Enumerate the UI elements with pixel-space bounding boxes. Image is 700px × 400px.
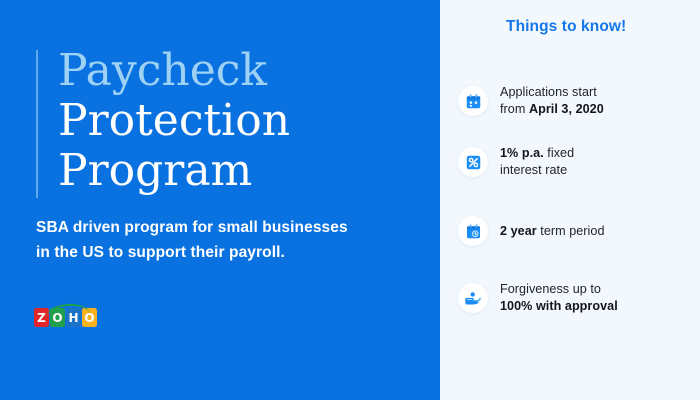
percent-icon bbox=[458, 147, 488, 177]
list-item: 1% p.a. fixed interest rate bbox=[458, 145, 688, 179]
fact-3-line-1: 2 year term period bbox=[500, 223, 605, 240]
zoho-logo: Z O H O bbox=[34, 308, 97, 327]
subtitle-line-1: SBA driven program for small businesses bbox=[36, 215, 406, 240]
fact-4-bold: 100% with approval bbox=[500, 299, 618, 313]
fact-text-2: 1% p.a. fixed interest rate bbox=[500, 145, 574, 179]
fact-3-bold: 2 year bbox=[500, 224, 537, 238]
left-blue-panel: Paycheck Protection Program SBA driven p… bbox=[0, 0, 440, 400]
hand-person-icon bbox=[458, 283, 488, 313]
fact-1-plain: from bbox=[500, 102, 529, 116]
fact-text-4: Forgiveness up to 100% with approval bbox=[500, 281, 618, 315]
fact-1-line-2: from April 3, 2020 bbox=[500, 101, 604, 118]
title-line-3: Program bbox=[58, 146, 290, 196]
calendar-icon bbox=[458, 86, 488, 116]
subtitle: SBA driven program for small businesses … bbox=[36, 215, 406, 265]
fact-4-line-1: Forgiveness up to bbox=[500, 281, 618, 298]
list-item: 2 year term period bbox=[458, 216, 688, 246]
title-line-2: Protection bbox=[58, 96, 290, 146]
list-item: Forgiveness up to 100% with approval bbox=[458, 281, 688, 315]
fact-2-plain: fixed bbox=[544, 146, 574, 160]
list-item: Applications start from April 3, 2020 bbox=[458, 84, 688, 118]
fact-2-line-1: 1% p.a. fixed bbox=[500, 145, 574, 162]
things-to-know-heading: Things to know! bbox=[506, 18, 626, 36]
title-accent-rule bbox=[36, 50, 38, 198]
right-info-panel: Things to know! bbox=[440, 0, 700, 400]
fact-text-3: 2 year term period bbox=[500, 223, 605, 240]
page-title: Paycheck Protection Program bbox=[36, 46, 290, 196]
fact-1-line-1: Applications start bbox=[500, 84, 604, 101]
fact-2-bold: 1% p.a. bbox=[500, 146, 544, 160]
fact-3-plain: term period bbox=[537, 224, 605, 238]
fact-1-bold: April 3, 2020 bbox=[529, 102, 604, 116]
fact-text-1: Applications start from April 3, 2020 bbox=[500, 84, 604, 118]
fact-2-line-2: interest rate bbox=[500, 162, 574, 179]
calendar-clock-icon bbox=[458, 216, 488, 246]
subtitle-line-2: in the US to support their payroll. bbox=[36, 240, 406, 265]
infographic-canvas: Paycheck Protection Program SBA driven p… bbox=[0, 0, 700, 400]
title-line-1: Paycheck bbox=[58, 46, 290, 96]
fact-4-line-2: 100% with approval bbox=[500, 298, 618, 315]
